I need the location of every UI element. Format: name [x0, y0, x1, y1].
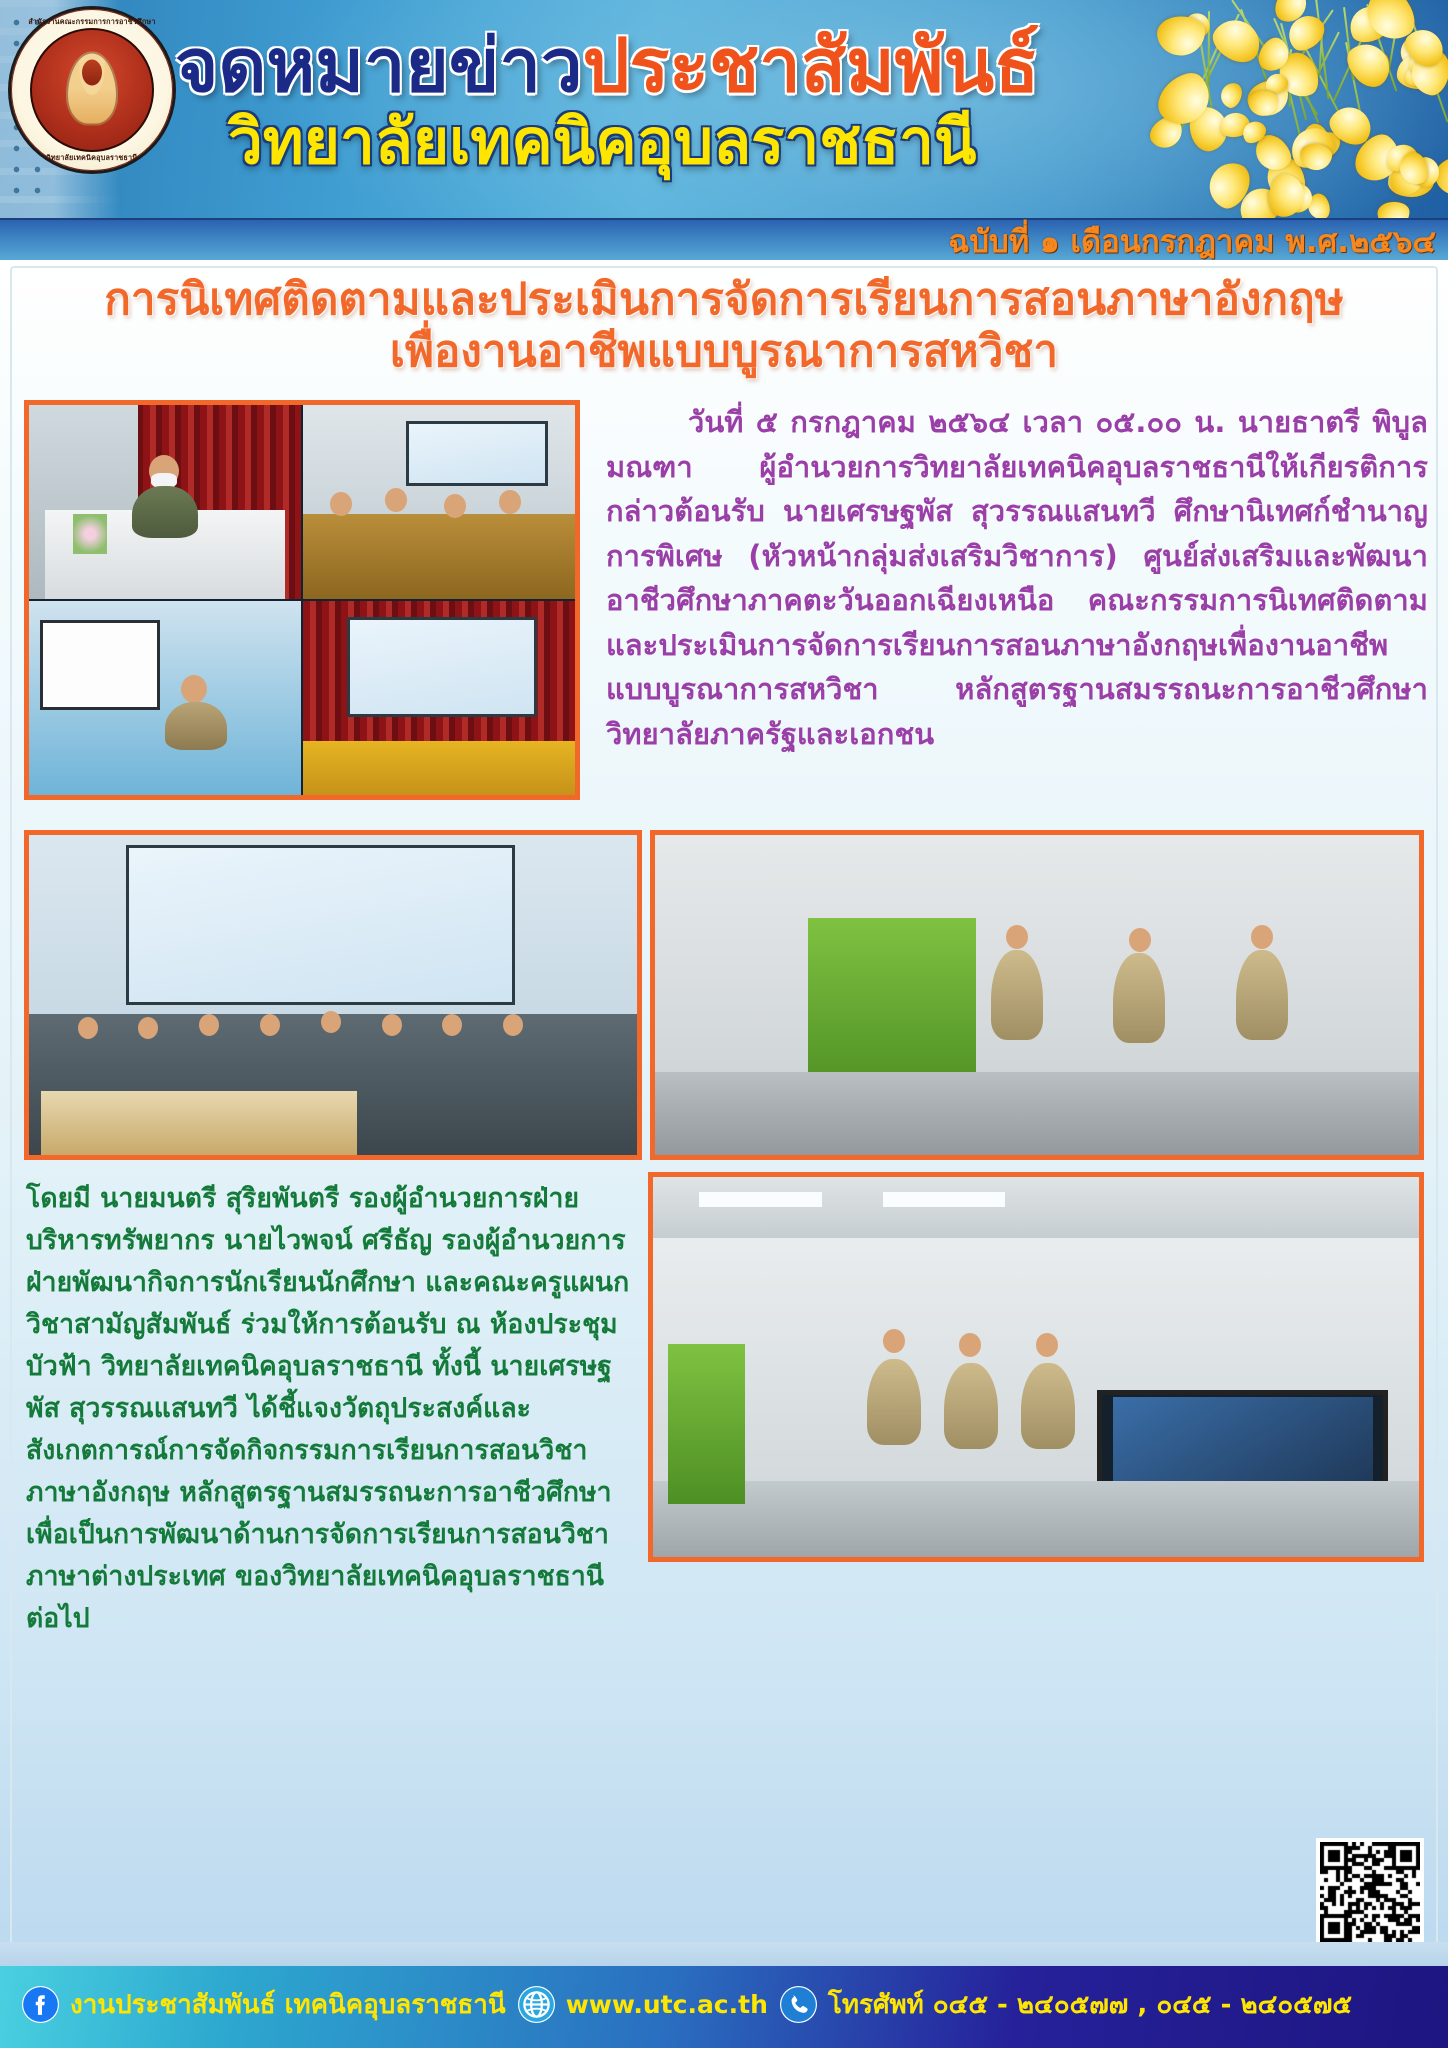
photo-welcome-slide	[303, 601, 575, 795]
qr-code[interactable]	[1316, 1838, 1424, 1946]
issue-number-text: ฉบับที่ ๑ เดือนกรกฎาคม พ.ศ.๒๕๖๔	[948, 222, 1436, 262]
newsletter-title-part2: ประชาสัมพันธ์	[583, 23, 1040, 109]
seal-bottom-text: วิทยาลัยเทคนิคอุบลราชธานี	[8, 153, 176, 164]
article-closing: โดยมี นายมนตรี สุริยพันตรี รองผู้อำนวยกา…	[26, 1178, 636, 1640]
newsletter-page: สำนักงานคณะกรรมการการอาชีวศึกษา วิทยาลัย…	[0, 0, 1448, 2048]
footer-website[interactable]: www.utc.ac.th	[518, 1986, 768, 2023]
newsletter-title-part1: จดหมายข่าว	[175, 23, 583, 109]
photo-teacher-presenting	[29, 601, 301, 795]
photo-lab-visit	[650, 830, 1424, 1160]
page-header: สำนักงานคณะกรรมการการอาชีวศึกษา วิทยาลัย…	[0, 0, 1448, 218]
photo-row-middle	[24, 830, 1424, 1160]
footer-phone-label: โทรศัพท์ ๐๔๕ - ๒๔๐๕๗๗ , ๐๔๕ - ๒๔๐๕๗๕	[828, 1984, 1352, 2025]
facebook-icon	[22, 1986, 59, 2023]
issue-band: ฉบับที่ ๑ เดือนกรกฎาคม พ.ศ.๒๕๖๔	[0, 218, 1448, 260]
article-headline: การนิเทศติดตามและประเมินการจัดการเรียนกา…	[24, 274, 1424, 378]
newsletter-title: จดหมายข่าวประชาสัมพันธ์	[175, 26, 1235, 106]
headline-line-1: การนิเทศติดตามและประเมินการจัดการเรียนกา…	[104, 274, 1344, 325]
headline-line-2: เพื่องานอาชีพแบบบูรณาการสหวิชา	[24, 326, 1424, 378]
photo-group-staff	[24, 830, 642, 1160]
article-content: การนิเทศติดตามและประเมินการจัดการเรียนกา…	[0, 260, 1448, 1960]
vocational-education-seal: สำนักงานคณะกรรมการการอาชีวศึกษา วิทยาลัย…	[8, 6, 176, 174]
college-name: วิทยาลัยเทคนิคอุบลราชธานี	[228, 106, 1288, 178]
article-body: วันที่ ๕ กรกฎาคม ๒๕๖๔ เวลา ๐๕.๐๐ น. นายธ…	[606, 400, 1428, 756]
footer-phone[interactable]: โทรศัพท์ ๐๔๕ - ๒๔๐๕๗๗ , ๐๔๕ - ๒๔๐๕๗๕	[780, 1984, 1352, 2025]
phone-icon	[780, 1986, 817, 2023]
photo-committee-table	[303, 405, 575, 599]
article-body-paragraph: วันที่ ๕ กรกฎาคม ๒๕๖๔ เวลา ๐๕.๐๐ น. นายธ…	[606, 400, 1428, 756]
photo-classroom-observation	[648, 1172, 1424, 1562]
footer-contact-row: งานประชาสัมพันธ์ เทคนิคอุบลราชธานี www.u…	[0, 1960, 1448, 2048]
footer-facebook[interactable]: งานประชาสัมพันธ์ เทคนิคอุบลราชธานี	[22, 1984, 506, 2025]
page-footer: งานประชาสัมพันธ์ เทคนิคอุบลราชธานี www.u…	[0, 1960, 1448, 2048]
photo-collage-top	[24, 400, 580, 800]
seal-top-text: สำนักงานคณะกรรมการการอาชีวศึกษา	[8, 17, 176, 28]
footer-website-label: www.utc.ac.th	[566, 1990, 768, 2019]
photo-director-speaking	[29, 405, 301, 599]
globe-icon	[518, 1986, 555, 2023]
footer-facebook-label: งานประชาสัมพันธ์ เทคนิคอุบลราชธานี	[70, 1984, 506, 2025]
